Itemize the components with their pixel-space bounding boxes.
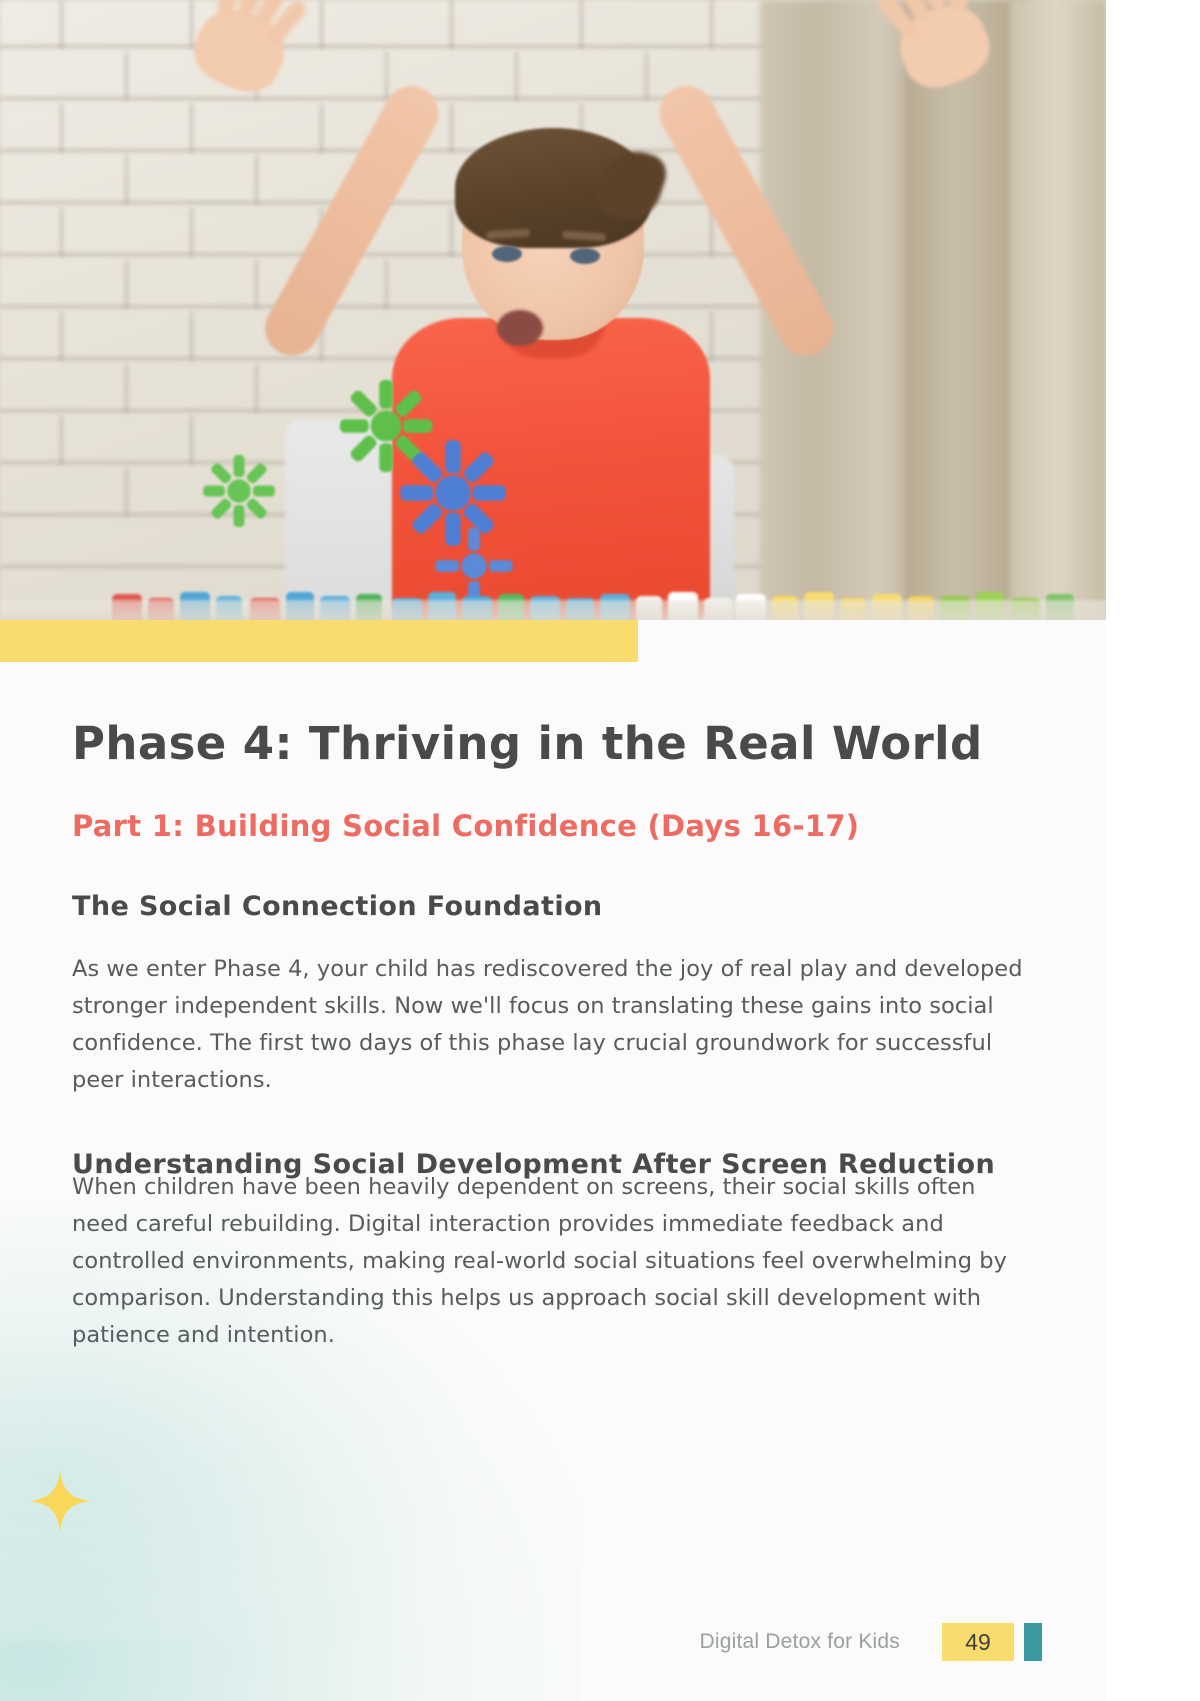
sparkle-star-icon bbox=[28, 1469, 92, 1533]
table-surface-edge bbox=[0, 600, 1106, 620]
hero-photo-illustration bbox=[0, 0, 1106, 620]
page-footer: Digital Detox for Kids 49 bbox=[0, 1583, 1106, 1701]
footer-teal-tick bbox=[1024, 1623, 1042, 1661]
section-social-connection-foundation: The Social Connection Foundation As we e… bbox=[72, 889, 1034, 1099]
child-eye-right bbox=[570, 248, 600, 264]
yellow-accent-bar bbox=[0, 620, 638, 662]
footer-book-title: Digital Detox for Kids bbox=[700, 1630, 900, 1654]
curtain-panel-right bbox=[1010, 0, 1106, 620]
part-title: Part 1: Building Social Confidence (Days… bbox=[72, 808, 1034, 845]
toy-flower-green-small bbox=[200, 452, 278, 530]
section-heading: The Social Connection Foundation bbox=[72, 889, 1034, 925]
page-number-badge: 49 bbox=[942, 1623, 1014, 1661]
child-eye-left bbox=[492, 246, 522, 262]
child-open-mouth bbox=[497, 310, 543, 346]
section-paragraph: When children have been heavily dependen… bbox=[72, 1169, 1034, 1353]
section-understanding-social-development: Understanding Social Development After S… bbox=[72, 1147, 1034, 1354]
section-paragraph: As we enter Phase 4, your child has redi… bbox=[72, 951, 1034, 1099]
document-page: Phase 4: Thriving in the Real World Part… bbox=[0, 0, 1106, 1701]
page-content: Phase 4: Thriving in the Real World Part… bbox=[0, 662, 1106, 1354]
page-title: Phase 4: Thriving in the Real World bbox=[72, 714, 1034, 774]
hero-photo bbox=[0, 0, 1106, 620]
